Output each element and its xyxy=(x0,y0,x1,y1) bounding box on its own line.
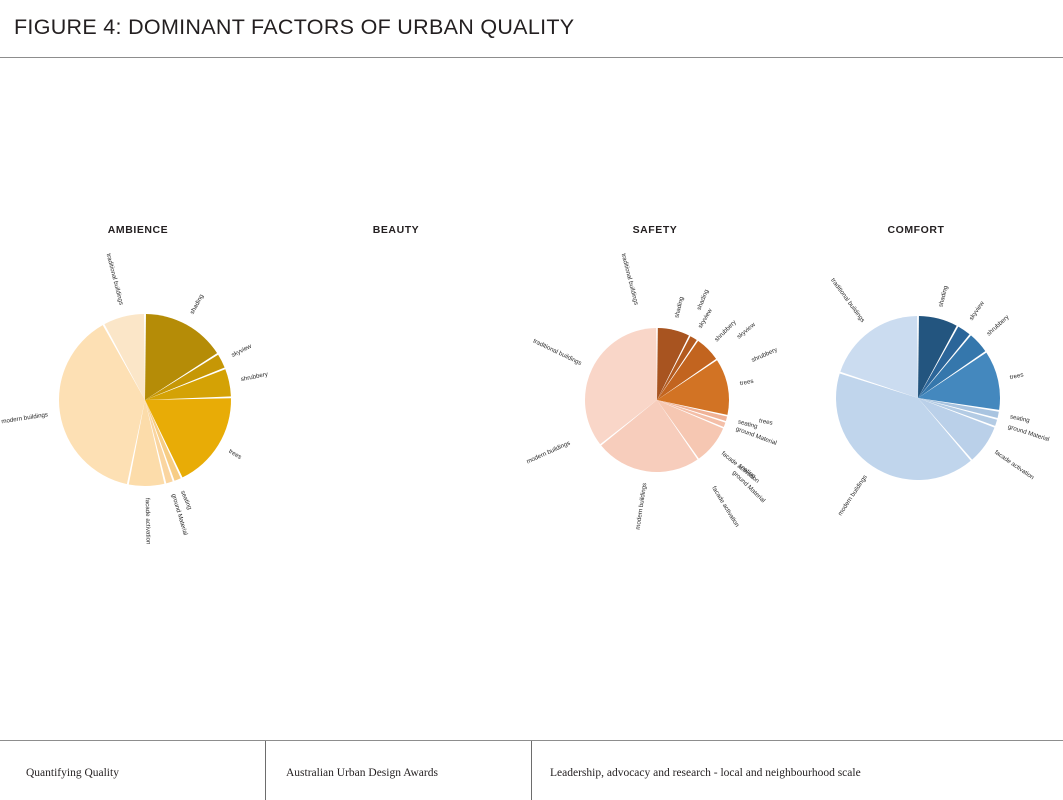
footer-cell-scale: Leadership, advocacy and research - loca… xyxy=(532,741,1063,800)
pie-slice-label: facade activation xyxy=(143,498,151,554)
chart-title: SAFETY xyxy=(525,224,785,236)
footer-text-2: Australian Urban Design Awards xyxy=(286,767,438,779)
pie-chart: shadingskyviewshrubberytreesseatinggroun… xyxy=(786,272,1046,522)
pie-chart: shadingskyviewshrubberytreesseatinggroun… xyxy=(525,272,785,522)
pie-svg xyxy=(266,272,526,522)
page-header: FIGURE 4: DOMINANT FACTORS OF URBAN QUAL… xyxy=(0,0,1063,57)
pie-svg xyxy=(8,272,268,522)
footer-cell-title: Quantifying Quality xyxy=(0,741,265,800)
figure-page: FIGURE 4: DOMINANT FACTORS OF URBAN QUAL… xyxy=(0,0,1063,800)
charts-row: AMBIENCEshadingskyviewshrubberytreesseat… xyxy=(0,210,1063,530)
chart-title: AMBIENCE xyxy=(8,224,268,236)
footer-text-3: Leadership, advocacy and research - loca… xyxy=(550,767,861,779)
header-divider xyxy=(0,57,1063,58)
chart-block-comfort: COMFORTshadingskyviewshrubberytreesseati… xyxy=(786,210,1046,530)
page-footer: Quantifying Quality Australian Urban Des… xyxy=(0,741,1063,800)
pie-svg xyxy=(786,272,1046,522)
footer-text-1: Quantifying Quality xyxy=(26,767,119,779)
chart-title: COMFORT xyxy=(786,224,1046,236)
pie-chart: shadingskyviewshrubberytreesseatinggroun… xyxy=(266,272,526,522)
chart-title: BEAUTY xyxy=(266,224,526,236)
footer-cell-awards: Australian Urban Design Awards xyxy=(266,741,531,800)
pie-svg xyxy=(525,272,785,522)
page-title: FIGURE 4: DOMINANT FACTORS OF URBAN QUAL… xyxy=(14,15,574,40)
chart-block-ambience: AMBIENCEshadingskyviewshrubberytreesseat… xyxy=(8,210,268,530)
pie-chart: shadingskyviewshrubberytreesseatinggroun… xyxy=(8,272,268,522)
chart-block-beauty: BEAUTYshadingskyviewshrubberytreesseatin… xyxy=(266,210,526,530)
chart-block-safety: SAFETYshadingskyviewshrubberytreesseatin… xyxy=(525,210,785,530)
